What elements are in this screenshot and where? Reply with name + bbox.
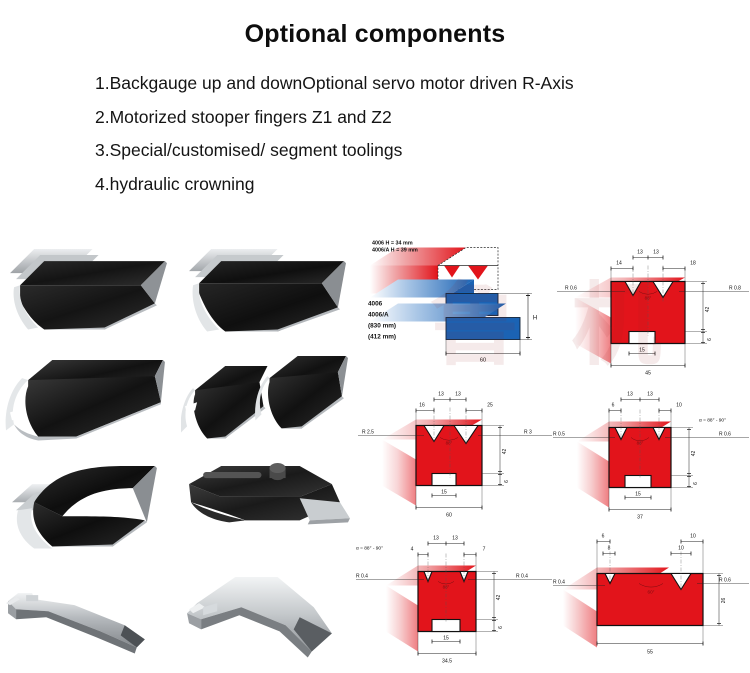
dim-26: 26 [721,598,727,604]
diagram-60-double-vee: 88° 13 13 16 25 R 2.5 [356,381,553,527]
radius-right-label: R 0.6 [719,578,731,584]
dim-10a: 10 [678,546,684,552]
radius-right-label: R 0.8 [729,286,741,292]
diagram-55-double-vee: 60° 6 10 8 10 R [553,527,750,673]
label-412mm: (412 mm) [368,334,396,341]
dim-15: 15 [639,348,645,354]
dim-6-top: 6 [612,403,615,409]
radius-left-label: R 2.5 [362,430,374,436]
dim-10b: 10 [690,534,696,540]
optional-components-list: 1.Backgauge up and downOptional servo mo… [95,75,750,193]
dim-14: 14 [616,261,622,267]
dim-6: 6 [498,626,504,629]
dim-16: 16 [419,403,425,409]
dim-13a: 13 [637,250,643,256]
dim-6: 6 [693,482,699,485]
angle-range-note: α = 88° - 90° [356,546,383,552]
dim-13b: 13 [653,250,659,256]
dim-60: 60 [446,513,452,519]
tooling-photo-grid [0,233,356,673]
dim-width-label: 60 [480,358,486,364]
radius-left-label: R 0.4 [553,580,565,586]
dim-13a: 13 [433,536,439,542]
diagram-45-double-vee: 88° 13 13 14 18 [553,235,750,381]
label-830mm: (830 mm) [368,323,396,330]
page-title: Optional components [0,20,750,49]
dim-42: 42 [705,307,711,313]
radius-left-label: R 0.5 [553,432,565,438]
dim-7: 7 [483,547,486,553]
dim-15: 15 [441,490,447,496]
angle-label: 88° [446,441,453,446]
content-area: H 60 4006 H = 34 mm 4006/A H = 39 mm 400… [0,233,750,673]
dim-10: 10 [676,403,682,409]
tooling-photo-5 [4,456,175,561]
dim-13a: 13 [627,392,633,398]
technical-diagram-grid: H 60 4006 H = 34 mm 4006/A H = 39 mm 400… [356,233,750,673]
list-item: 3.Special/customised/ segment toolings [95,142,750,160]
dim-37: 37 [637,515,643,521]
dim-18: 18 [690,261,696,267]
list-item: 4.hydraulic crowning [95,176,750,194]
dim-6: 6 [504,480,510,483]
radius-left-label: R 0.4 [356,574,368,580]
dim-6: 6 [707,338,713,341]
dim-13b: 13 [452,536,458,542]
note-4006-height: 4006 H = 34 mm [372,241,413,247]
radius-right-label: R 0.4 [516,574,528,580]
dim-6-top: 6 [602,534,605,540]
dim-4: 4 [411,547,414,553]
diagram-37-double-vee: 88° 13 13 6 10 α = 88° - 90° [553,381,750,527]
dim-13b: 13 [455,392,461,398]
dim-height-label: H [533,316,537,322]
dim-42: 42 [691,451,697,457]
dim-42: 42 [496,595,502,601]
radius-right-label: R 3 [524,430,532,436]
tooling-photo-3 [4,348,175,453]
angle-label: 60° [648,590,655,595]
dim-45: 45 [645,371,651,377]
tooling-photo-7 [4,565,175,670]
tooling-photo-8 [181,565,352,670]
label-4006a: 4006/A [368,312,389,319]
tooling-photo-4 [181,348,352,453]
note-4006a-height: 4006/A H = 39 mm [372,248,418,254]
dim-8: 8 [608,546,611,552]
dim-15: 15 [635,492,641,498]
dim-13b: 13 [647,392,653,398]
dim-25: 25 [487,403,493,409]
radius-right-label: R 0.6 [719,432,731,438]
dim-15: 15 [443,636,449,642]
dim-34-5: 34.5 [442,659,452,665]
diagram-34-5-double-vee: 88° 13 13 4 7 α = 88° - 90° [356,527,553,673]
tooling-photo-2 [181,239,352,344]
tooling-photo-6 [181,456,352,561]
diagram-4006-stack: H 60 4006 H = 34 mm 4006/A H = 39 mm 400… [356,235,553,381]
dim-42: 42 [502,449,508,455]
label-4006: 4006 [368,301,383,308]
list-item: 1.Backgauge up and downOptional servo mo… [95,75,750,93]
radius-left-label: R 0.6 [565,286,577,292]
dim-13a: 13 [438,392,444,398]
angle-range-note: α = 88° - 90° [699,418,726,424]
list-item: 2.Motorized stooper fingers Z1 and Z2 [95,109,750,127]
tooling-photo-1 [4,239,175,344]
